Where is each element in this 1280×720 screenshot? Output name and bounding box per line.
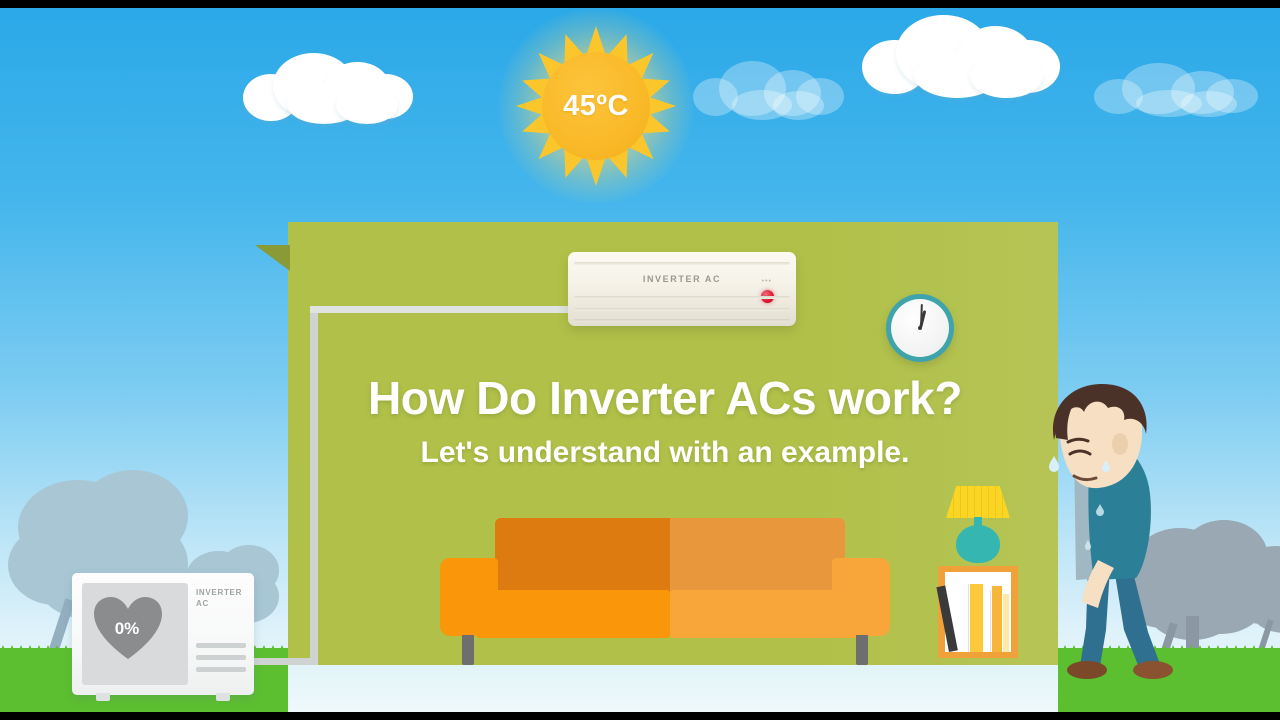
- man-shoe-back: [1133, 661, 1173, 679]
- ac-vent-line-1: [574, 262, 790, 265]
- outdoor-inverter-unit[interactable]: 0% INVERTER AC: [72, 573, 254, 695]
- wall-clock: [886, 294, 954, 362]
- lamp-shade-pleats: [946, 486, 1010, 518]
- man-shoe-front: [1067, 661, 1107, 679]
- unit-brand-line-2: AC: [196, 598, 250, 609]
- unit-foot-right: [216, 693, 230, 701]
- refrigerant-pipe-horizontal-top: [310, 306, 572, 313]
- illustration-stage: 45ºC INVERTER AC •••: [0, 0, 1280, 720]
- sofa-seat-left: [476, 590, 670, 638]
- heart-load-gauge: 0%: [92, 595, 162, 661]
- cloud-puff: [336, 86, 399, 124]
- man-leg-back: [1114, 568, 1160, 670]
- sun-icon: 45ºC: [498, 8, 694, 204]
- man-ear: [1112, 433, 1128, 455]
- sweat-drop-1: [1049, 456, 1059, 472]
- title-block: How Do Inverter ACs work? Let's understa…: [300, 374, 1030, 470]
- ac-vent-line-4: [574, 319, 790, 322]
- cloud-left: [243, 48, 428, 124]
- unit-brand-line-1: INVERTER: [196, 587, 250, 598]
- ac-indicator-dots: •••: [762, 278, 772, 285]
- clock-minute-hand: [920, 304, 923, 328]
- book: [1003, 594, 1009, 652]
- refrigerant-pipe-elbow: [290, 658, 318, 665]
- wall-mounted-ac-unit[interactable]: INVERTER AC •••: [568, 252, 796, 326]
- man-illustration: [1040, 382, 1190, 692]
- orange-sofa: [440, 518, 890, 666]
- book-shelf-interior: [945, 572, 1011, 652]
- cloud-right: [862, 10, 1077, 98]
- sofa-leg-right: [856, 635, 868, 665]
- cloud-far-right: [1090, 62, 1265, 117]
- tired-man-walking: [1040, 382, 1190, 692]
- unit-foot-left: [96, 693, 110, 701]
- load-percent-label: 0%: [115, 619, 140, 639]
- sofa-backrest-left: [495, 518, 670, 596]
- book: [984, 590, 991, 652]
- sofa-seat-right: [670, 590, 864, 638]
- lamp-base: [956, 525, 1000, 563]
- book: [970, 584, 983, 652]
- wall-awning: [255, 245, 290, 271]
- book: [959, 584, 969, 652]
- cloud-puff: [1181, 91, 1237, 117]
- book: [992, 586, 1002, 652]
- unit-detail-line-1: [196, 643, 246, 648]
- sofa-backrest-right: [670, 518, 845, 596]
- unit-detail-line-3: [196, 667, 246, 672]
- cloud-mid: [690, 60, 850, 120]
- lamp-and-bookshelf: [932, 486, 1024, 666]
- unit-brand-label: INVERTER AC: [196, 587, 250, 609]
- letterbox-top: [0, 0, 1280, 8]
- page-subtitle: Let's understand with an example.: [300, 436, 1030, 470]
- ac-vent-line-3: [574, 308, 790, 311]
- cloud-puff: [970, 54, 1043, 98]
- page-title: How Do Inverter ACs work?: [300, 374, 1030, 422]
- ac-vent-line-2: [574, 296, 790, 299]
- clock-center-pin: [918, 326, 922, 330]
- cloud-puff: [773, 91, 824, 120]
- unit-detail-line-2: [196, 655, 246, 660]
- refrigerant-pipe-horizontal-bottom: [254, 658, 294, 665]
- sofa-leg-left: [462, 635, 474, 665]
- letterbox-bottom: [0, 712, 1280, 720]
- temperature-label: 45ºC: [542, 52, 650, 160]
- refrigerant-pipe-vertical: [310, 306, 318, 665]
